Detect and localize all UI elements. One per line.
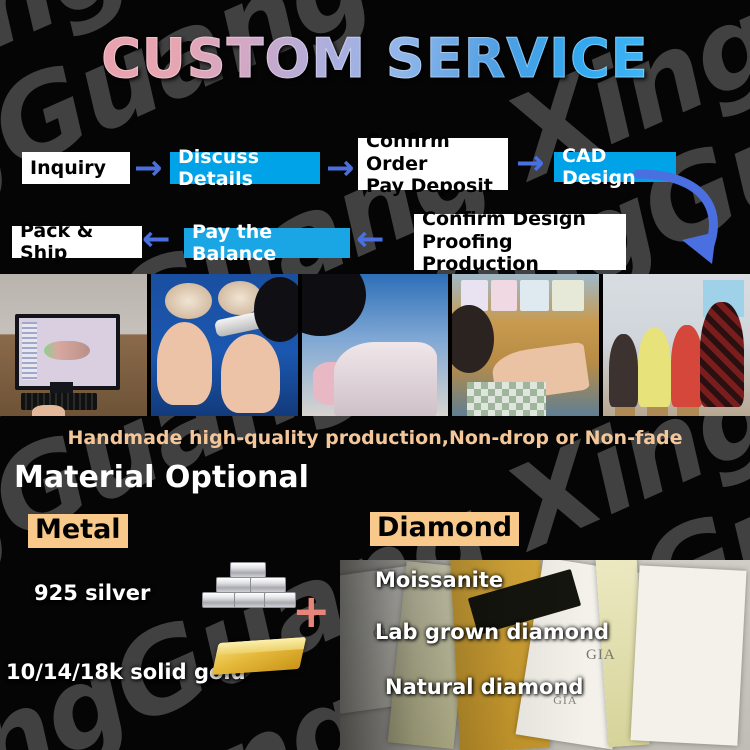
flow-step-label: Discuss Details [178, 146, 312, 191]
silver-bars-icon [200, 562, 296, 620]
diamond-category-chip: Diamond [370, 512, 519, 546]
flow-step-inquiry[interactable]: Inquiry [22, 152, 130, 184]
flow-step-pack-ship[interactable]: Pack & Ship [12, 226, 142, 258]
quality-tagline: Handmade high-quality production,Non-dro… [0, 427, 750, 449]
material-option-lab-grown-diamond: Lab grown diamond [375, 620, 609, 644]
material-option-gold: 10/14/18k solid gold [6, 660, 246, 684]
plus-icon: + [292, 588, 331, 634]
flow-step-label-line1: Confirm Design [422, 208, 618, 230]
flow-step-label-line1: Confirm Order [366, 130, 500, 175]
flow-step-pay-balance[interactable]: Pay the Balance [184, 228, 350, 258]
custom-service-infographic: XingGuang XingGuang XingGuang XingGuang … [0, 0, 750, 750]
material-option-moissanite: Moissanite [375, 568, 503, 592]
arrow-right-icon-3: → [516, 146, 545, 180]
material-option-silver: 925 silver [34, 581, 150, 605]
arrow-right-icon-1: → [134, 151, 163, 185]
flow-step-label: Pay the Balance [192, 221, 342, 266]
flow-step-confirm-order[interactable]: Confirm Order Pay Deposit [358, 138, 508, 190]
curved-arrow-icon [620, 168, 740, 278]
metal-category-chip: Metal [28, 514, 128, 548]
flow-step-confirm-design[interactable]: Confirm Design Proofing Production [414, 214, 626, 270]
flow-step-label-line2: Proofing Production [422, 231, 618, 276]
flow-step-label: Pack & Ship [20, 220, 134, 265]
flow-step-discuss-details[interactable]: Discuss Details [170, 152, 320, 184]
material-option-natural-diamond: Natural diamond [385, 675, 583, 699]
flow-step-label: Inquiry [30, 157, 122, 179]
material-optional-heading: Material Optional [14, 460, 309, 495]
arrow-left-icon-1: ← [356, 222, 385, 256]
arrow-left-icon-2: ← [142, 222, 171, 256]
arrow-right-icon-2: → [326, 151, 355, 185]
flow-step-label-line2: Pay Deposit [366, 175, 500, 197]
gold-bar-icon [212, 637, 306, 675]
